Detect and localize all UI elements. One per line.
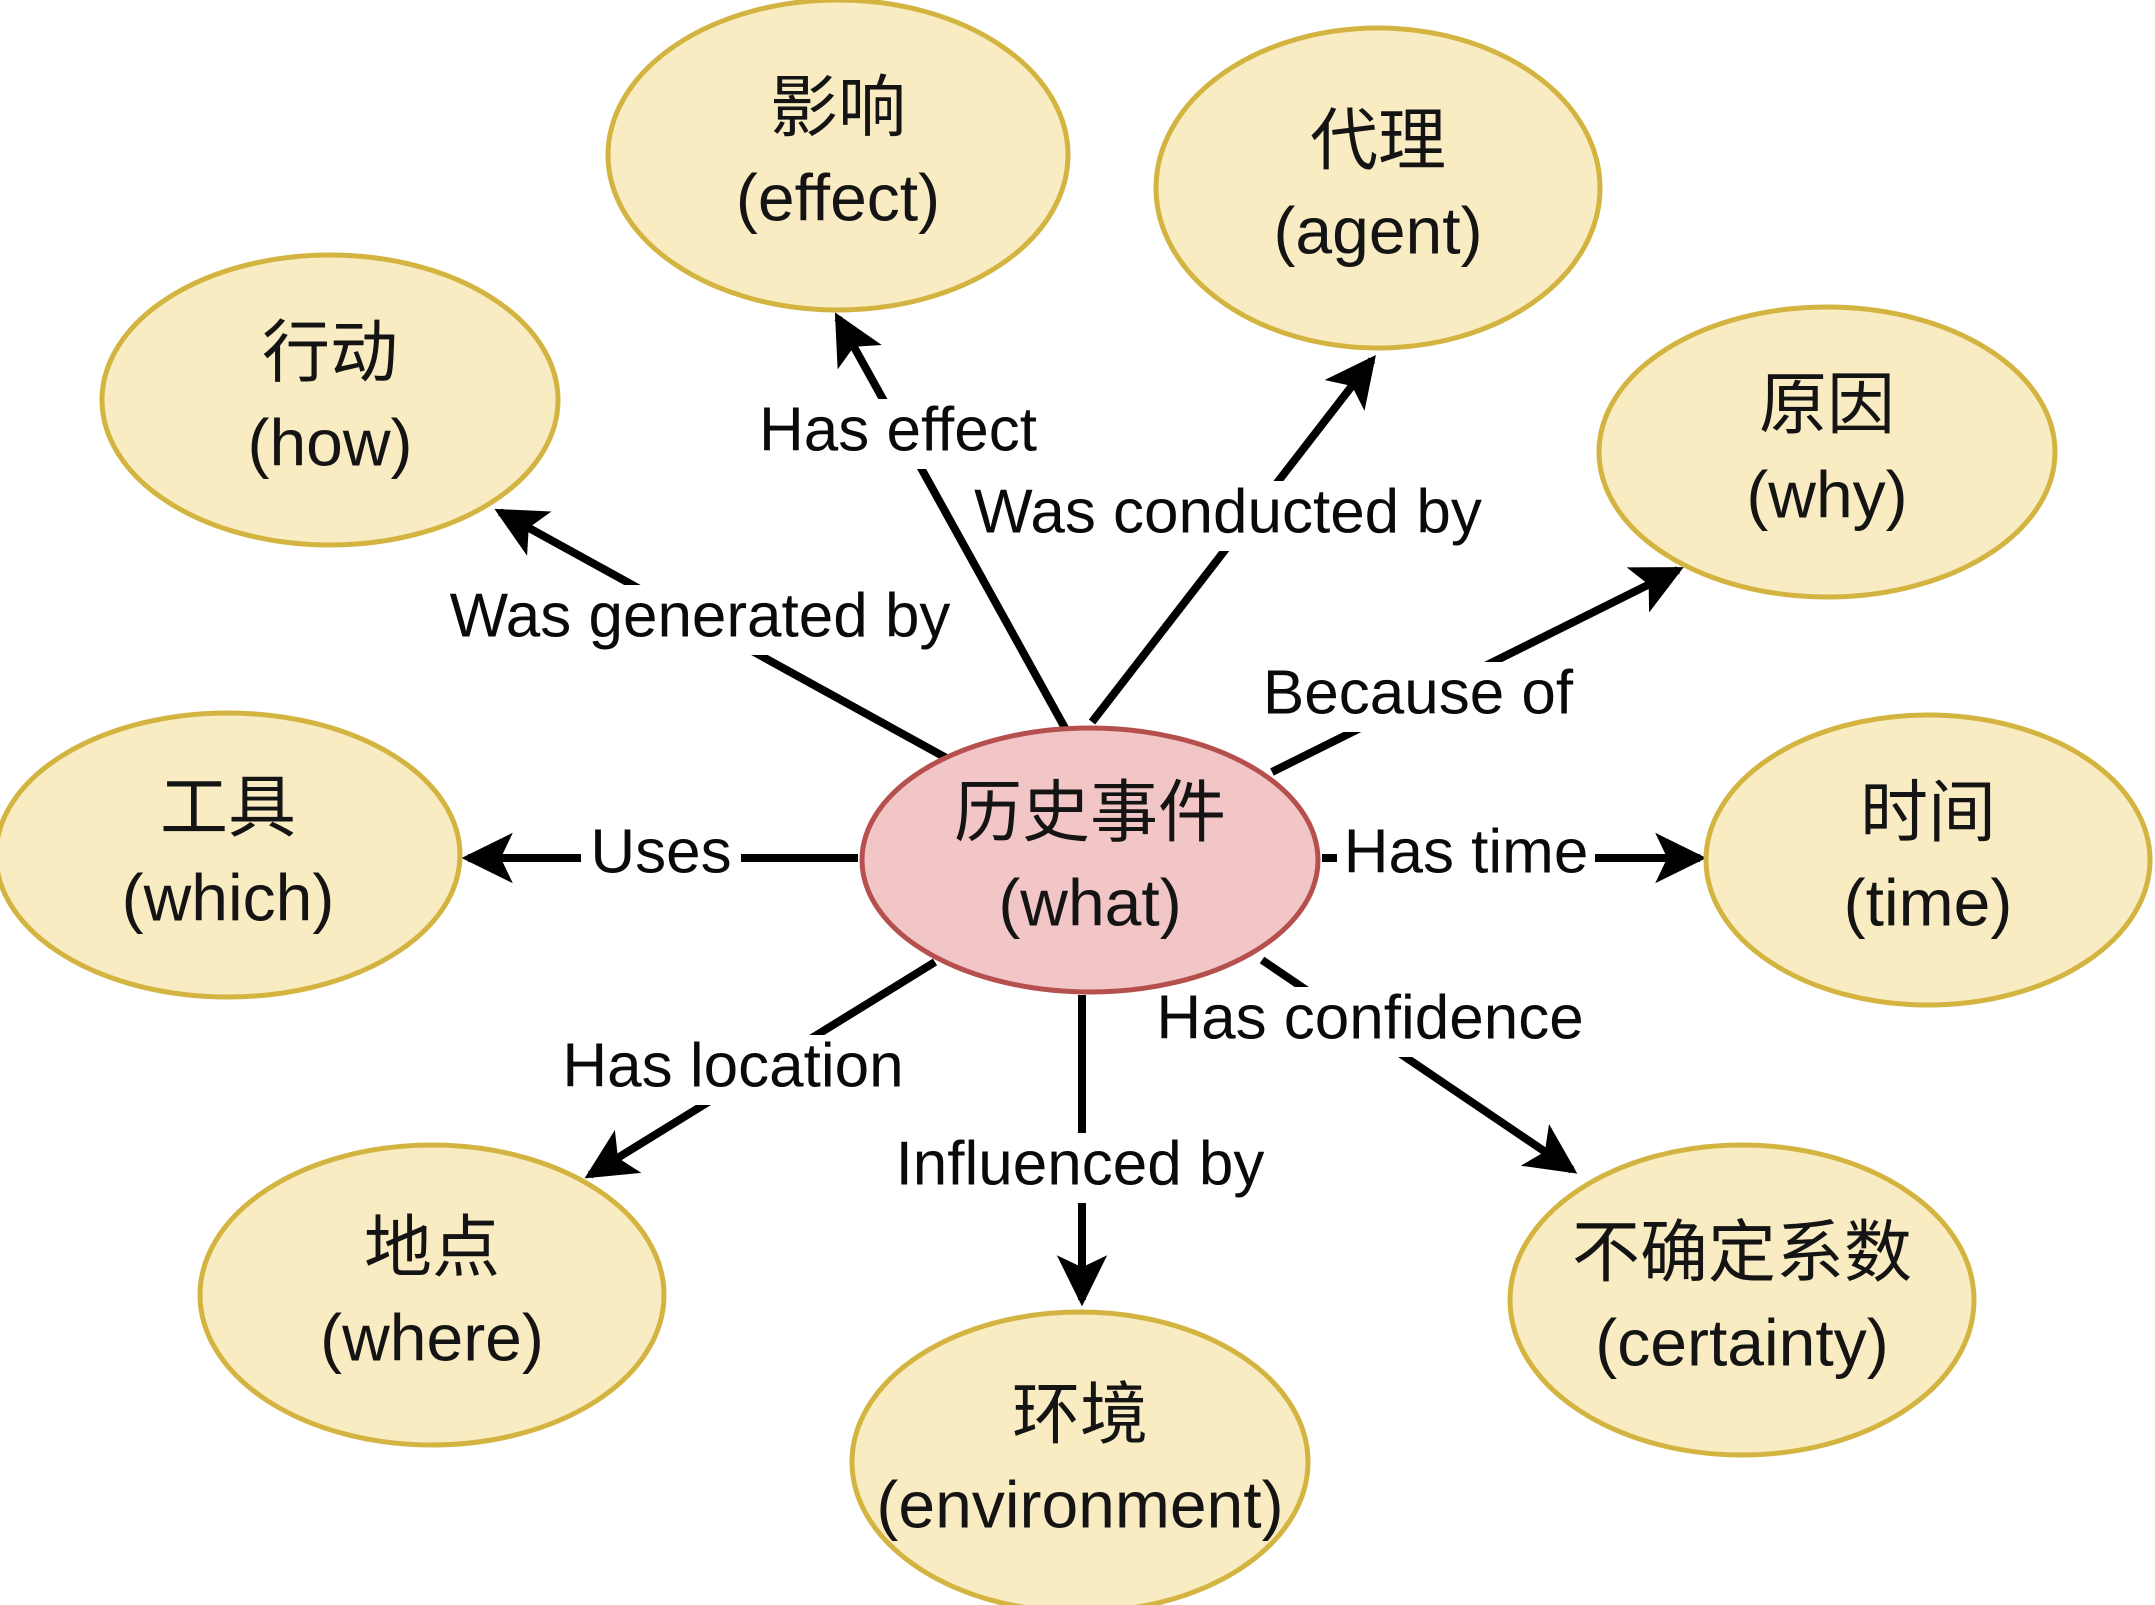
node-label-cn-agent: 代理 <box>1310 103 1446 179</box>
edge-label-was-generated-by: Was generated by <box>450 581 951 655</box>
node-ellipse-why[interactable] <box>1599 307 2055 597</box>
node-what[interactable]: 历史事件(what) <box>862 728 1318 992</box>
node-label-en-certainty: (certainty) <box>1595 1305 1888 1379</box>
edge-label-text-uses: Uses <box>590 817 731 886</box>
node-label-cn-certainty: 不确定系数 <box>1572 1215 1912 1291</box>
node-label-en-environment: (environment) <box>876 1467 1283 1541</box>
edge-label-influenced-by: Influenced by <box>896 1129 1265 1203</box>
node-label-en-how: (how) <box>247 405 412 479</box>
node-label-cn-environment: 环境 <box>1012 1377 1148 1453</box>
node-ellipse-agent[interactable] <box>1156 28 1600 348</box>
edge-label-has-effect: Has effect <box>753 395 1043 469</box>
node-ellipse-environment[interactable] <box>852 1312 1308 1605</box>
mind-map-canvas: 行动(how)影响(effect)代理(agent)原因(why)工具(whic… <box>0 0 2155 1605</box>
node-ellipse-which[interactable] <box>0 713 460 997</box>
node-label-cn-what: 历史事件 <box>954 775 1226 851</box>
edge-label-text-has-confidence: Has confidence <box>1156 983 1583 1052</box>
edge-label-text-was-generated-by: Was generated by <box>450 581 951 650</box>
node-how[interactable]: 行动(how) <box>102 255 558 545</box>
node-label-en-where: (where) <box>320 1300 544 1374</box>
node-label-en-which: (which) <box>122 860 335 934</box>
edge-label-text-has-location: Has location <box>562 1031 903 1100</box>
node-label-en-why: (why) <box>1746 457 1907 531</box>
edge-label-text-has-effect: Has effect <box>759 395 1037 464</box>
node-ellipse-what[interactable] <box>862 728 1318 992</box>
edge-label-text-was-conducted-by: Was conducted by <box>974 477 1482 546</box>
node-agent[interactable]: 代理(agent) <box>1156 28 1600 348</box>
node-label-cn-which: 工具 <box>160 770 296 846</box>
edge-label-was-conducted-by: Was conducted by <box>974 477 1482 551</box>
node-label-cn-effect: 影响 <box>770 70 906 146</box>
node-ellipse-time[interactable] <box>1706 715 2150 1005</box>
node-ellipse-effect[interactable] <box>608 0 1068 310</box>
nodes-layer: 行动(how)影响(effect)代理(agent)原因(why)工具(whic… <box>0 0 2150 1605</box>
node-where[interactable]: 地点(where) <box>200 1145 664 1445</box>
edge-label-has-confidence: Has confidence <box>1156 983 1583 1057</box>
node-why[interactable]: 原因(why) <box>1599 307 2055 597</box>
edge-label-because-of: Because of <box>1263 658 1574 732</box>
node-ellipse-where[interactable] <box>200 1145 664 1445</box>
node-label-en-agent: (agent) <box>1273 193 1482 267</box>
node-label-en-what: (what) <box>998 865 1181 939</box>
node-label-cn-where: 地点 <box>364 1210 500 1286</box>
edge-label-text-influenced-by: Influenced by <box>896 1129 1265 1198</box>
edge-label-has-time: Has time <box>1337 817 1595 891</box>
node-label-en-time: (time) <box>1844 865 2013 939</box>
node-certainty[interactable]: 不确定系数(certainty) <box>1510 1145 1974 1455</box>
edge-label-uses: Uses <box>581 817 741 891</box>
mind-map-diagram: 行动(how)影响(effect)代理(agent)原因(why)工具(whic… <box>0 0 2155 1605</box>
node-label-cn-why: 原因 <box>1759 367 1895 443</box>
node-time[interactable]: 时间(time) <box>1706 715 2150 1005</box>
node-label-en-effect: (effect) <box>736 160 940 234</box>
edge-label-text-because-of: Because of <box>1263 658 1574 727</box>
node-environment[interactable]: 环境(environment) <box>852 1312 1308 1605</box>
node-label-cn-time: 时间 <box>1860 775 1996 851</box>
node-ellipse-how[interactable] <box>102 255 558 545</box>
node-effect[interactable]: 影响(effect) <box>608 0 1068 310</box>
node-which[interactable]: 工具(which) <box>0 713 460 997</box>
node-label-cn-how: 行动 <box>262 315 398 391</box>
node-ellipse-certainty[interactable] <box>1510 1145 1974 1455</box>
edge-label-text-has-time: Has time <box>1344 817 1589 886</box>
edge-label-has-location: Has location <box>562 1031 903 1105</box>
